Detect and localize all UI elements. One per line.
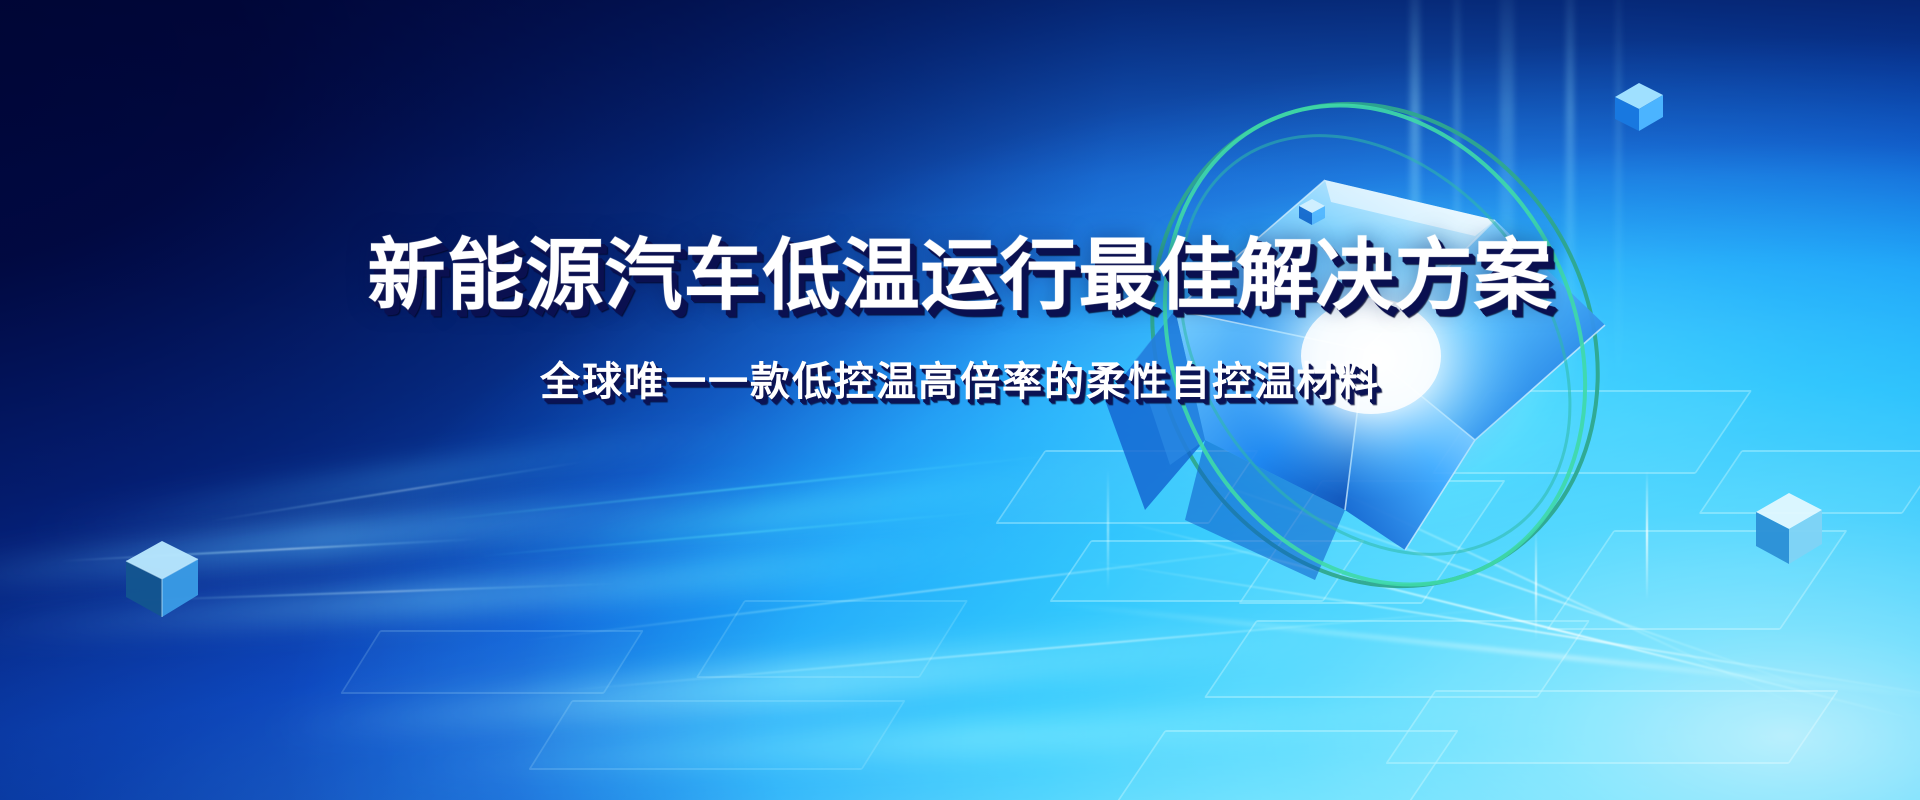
hero-banner: 新能源汽车低温运行最佳解决方案 全球唯一一款低控温高倍率的柔性自控温材料 <box>0 0 1920 800</box>
banner-text: 新能源汽车低温运行最佳解决方案 全球唯一一款低控温高倍率的柔性自控温材料 <box>0 0 1920 800</box>
banner-title: 新能源汽车低温运行最佳解决方案 <box>0 236 1920 314</box>
banner-subtitle: 全球唯一一款低控温高倍率的柔性自控温材料 <box>0 362 1920 402</box>
